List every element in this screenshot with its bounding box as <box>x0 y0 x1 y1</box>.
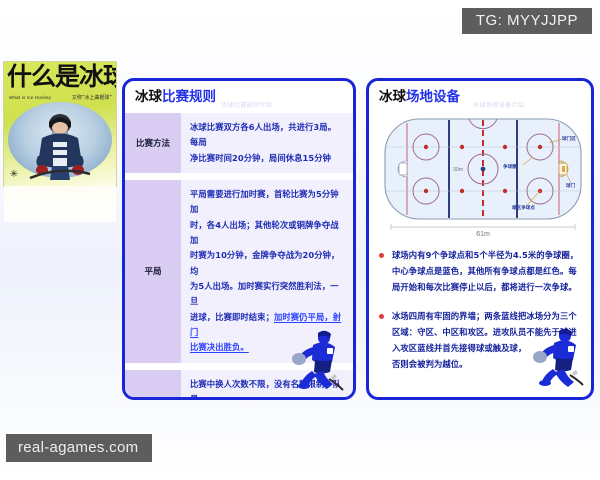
book-cover-title-cn: 什么是冰球 <box>7 64 115 89</box>
bullet-line: 局开始和每次比赛停止以后，都将进行一次争球。 <box>392 279 587 295</box>
bullet-line: 冰场四周有牢固的界墙；两条蓝线把冰场分为三个 <box>392 308 587 324</box>
rink-ghost-text: 冰球场地设备介绍 <box>473 100 524 109</box>
maple-leaf-icon: ✳ <box>9 170 19 180</box>
bullet-line: 球场内有9个争球点和5个半径为4.5米的争球圈， <box>392 247 587 263</box>
row-line: 冰球比赛双方各6人出场，共进行3局。每局 <box>190 120 343 151</box>
row-label: 平局 <box>125 180 181 363</box>
row-line: 时，各4人出场；其他轮次或铜牌争夺战加 <box>190 218 343 249</box>
rink-card-title: 冰球场地设备 <box>379 91 460 105</box>
rules-title-black: 冰球 <box>135 89 162 105</box>
rink-width-label: 61m <box>377 231 589 245</box>
rules-card-title: 冰球比赛规则 <box>135 91 216 105</box>
site-watermark: real-agames.com <box>6 434 152 462</box>
table-row: 比赛方法 冰球比赛双方各6人出场，共进行3局。每局 净比赛时间20分钟，局间休息… <box>125 113 353 173</box>
book-cover-bottom-sheet <box>4 186 116 222</box>
faceoff-circle-label: 争球圈 <box>503 163 517 170</box>
row-gap <box>125 173 353 180</box>
row-line: 平局需要进行加时赛，首轮比赛为5分钟加 <box>190 187 343 218</box>
bullet-line: 中心争球点是蓝色，其他所有争球点都是红色。每 <box>392 263 587 279</box>
row-line: 时赛为10分钟，金牌争夺战为20分钟，均 <box>190 248 343 279</box>
book-cover-subtitle: 又称“冰上曲棍球” <box>72 94 112 101</box>
rules-ghost-text: 冰球比赛规则介绍 <box>221 100 272 109</box>
book-cover: 什么是冰球 What is Ice Hockey 又称“冰上曲棍球” ✳ <box>4 62 116 186</box>
rules-card: 冰球比赛规则 冰球比赛规则介绍 比赛方法 冰球比赛双方各6人出场，共进行3局。每… <box>122 78 356 400</box>
goal-crease-label: 球门区 <box>562 135 576 142</box>
ice-hockey-rink-diagram: 30m 球门区 争球圈 球门 端区争球点 <box>377 113 589 233</box>
hockey-player-silhouette-icon <box>529 327 585 387</box>
rules-title-blue: 比赛规则 <box>162 89 216 105</box>
cover-hockey-player-photo <box>28 102 92 182</box>
rink-card: 冰球场地设备 冰球场地设备介绍 <box>366 78 594 400</box>
list-item: 球场内有9个争球点和5个半径为4.5米的争球圈， 中心争球点是蓝色，其他所有争球… <box>379 247 587 296</box>
goal-label: 球门 <box>566 182 576 189</box>
row-label: 规则 <box>125 370 181 400</box>
page-canvas: 什么是冰球 What is Ice Hockey 又称“冰上曲棍球” ✳ 冰球比… <box>0 0 600 480</box>
row-line: 净比赛时间20分钟，局间休息15分钟 <box>190 151 343 166</box>
rink-diagram: 30m 球门区 争球圈 球门 端区争球点 61m <box>377 113 589 245</box>
book-cover-title-en: What is Ice Hockey <box>9 95 51 100</box>
rink-title-blue: 场地设备 <box>406 89 460 105</box>
row-line-text: 进球，比赛即时结束； <box>190 312 274 322</box>
hockey-player-silhouette-icon <box>287 329 345 391</box>
rink-height-label: 30m <box>453 167 463 173</box>
row-line: 为5人出场。加时赛实行突然胜利法，一旦 <box>190 279 343 310</box>
rink-title-black: 冰球 <box>379 89 406 105</box>
telegram-tag-overlay: TG: MYYJJPP <box>462 8 592 34</box>
row-body: 冰球比赛双方各6人出场，共进行3局。每局 净比赛时间20分钟，局间休息15分钟 <box>181 113 353 173</box>
end-zone-faceoff-spot-label: 端区争球点 <box>512 204 535 211</box>
row-line-highlight: 比赛决出胜负。 <box>190 342 249 352</box>
row-label: 比赛方法 <box>125 113 181 173</box>
